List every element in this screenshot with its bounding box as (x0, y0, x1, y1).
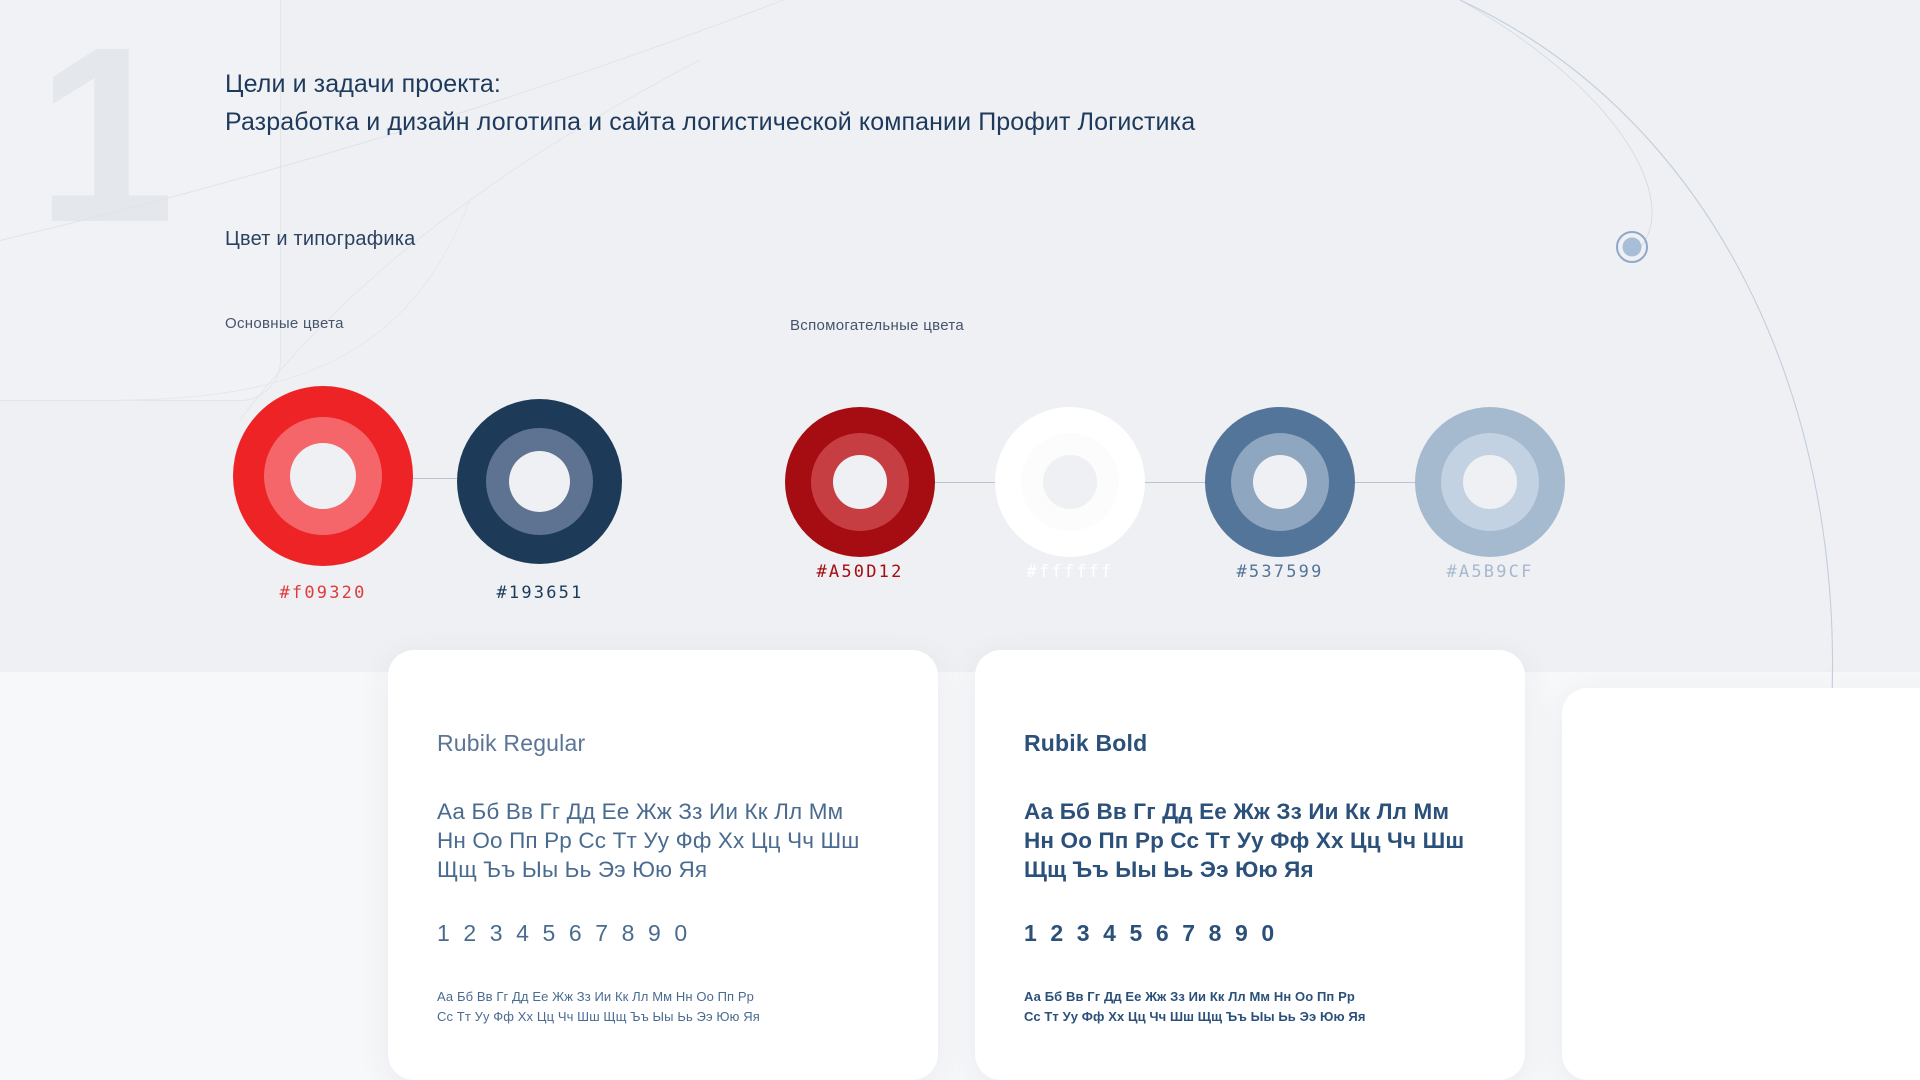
color-swatch-hole (1463, 455, 1517, 509)
color-swatch-secondary-4[interactable] (1415, 407, 1565, 557)
color-hex-secondary-1: #A50D12 (750, 562, 970, 582)
color-swatch-primary-1[interactable] (233, 386, 413, 566)
section-label-color-typography: Цвет и типографика (225, 228, 415, 251)
group-title-primary-colors: Основные цвета (225, 315, 344, 332)
color-hex-primary-2: #193651 (430, 583, 650, 603)
alphabet-row: Аа Бб Вв Гг Дд Ее Жж Зз Ии Кк Лл Мм (1024, 797, 1495, 826)
typography-card-regular: Rubik Regular Аа Бб Вв Гг Дд Ее Жж Зз Ии… (388, 650, 938, 1080)
color-swatch-hole (290, 443, 356, 509)
color-swatch-hole (1043, 455, 1097, 509)
color-swatch-hole (1253, 455, 1307, 509)
color-hex-primary-1: #f09320 (213, 583, 433, 603)
typography-card-bold: Rubik Bold Аа Бб Вв Гг Дд Ее Жж Зз Ии Кк… (975, 650, 1525, 1080)
alphabet-row: Нн Оо Пп Рр Сс Тт Уу Фф Хх Цц Чч Шш (437, 826, 908, 855)
alphabet-small-row: Сс Тт Уу Фф Хх Цц Чч Шш Щщ Ъъ Ыы Ьь Ээ Ю… (437, 1007, 908, 1027)
alphabet-row: Щщ Ъъ Ыы Ьь Ээ Юю Яя (437, 855, 908, 884)
alphabet-row: Щщ Ъъ Ыы Ьь Ээ Юю Яя (1024, 855, 1495, 884)
font-name-regular: Rubik Regular (437, 730, 908, 757)
color-hex-secondary-4: #A5B9CF (1380, 562, 1600, 582)
alphabet-small-row: Сс Тт Уу Фф Хх Цц Чч Шш Щщ Ъъ Ыы Ьь Ээ Ю… (1024, 1007, 1495, 1027)
alphabet-small-row: Аа Бб Вв Гг Дд Ее Жж Зз Ии Кк Лл Мм Нн О… (437, 987, 908, 1007)
color-swatch-hole (509, 451, 570, 512)
color-swatch-hole (833, 455, 887, 509)
heading-line-2: Разработка и дизайн логотипа и сайта лог… (225, 103, 1425, 141)
alphabet-small-row: Аа Бб Вв Гг Дд Ее Жж Зз Ии Кк Лл Мм Нн О… (1024, 987, 1495, 1007)
alphabet-row: Аа Бб Вв Гг Дд Ее Жж Зз Ии Кк Лл Мм (437, 797, 908, 826)
color-swatch-secondary-3[interactable] (1205, 407, 1355, 557)
typography-card-partial (1562, 688, 1920, 1080)
page-title: Цели и задачи проекта: Разработка и диза… (225, 65, 1425, 141)
alphabet-row: Нн Оо Пп Рр Сс Тт Уу Фф Хх Цц Чч Шш (1024, 826, 1495, 855)
numerals-row: 1 2 3 4 5 6 7 8 9 0 (1024, 920, 1495, 947)
color-swatch-secondary-1[interactable] (785, 407, 935, 557)
slide-number-watermark: 1 (36, 10, 167, 260)
color-hex-secondary-3: #537599 (1170, 562, 1390, 582)
font-name-bold: Rubik Bold (1024, 730, 1495, 757)
group-title-secondary-colors: Вспомогательные цвета (790, 317, 964, 334)
color-hex-secondary-2: #ffffff (960, 562, 1180, 582)
color-swatch-secondary-2[interactable] (995, 407, 1145, 557)
color-swatch-primary-2[interactable] (457, 399, 622, 564)
numerals-row: 1 2 3 4 5 6 7 8 9 0 (437, 920, 908, 947)
heading-line-1: Цели и задачи проекта: (225, 65, 1425, 103)
